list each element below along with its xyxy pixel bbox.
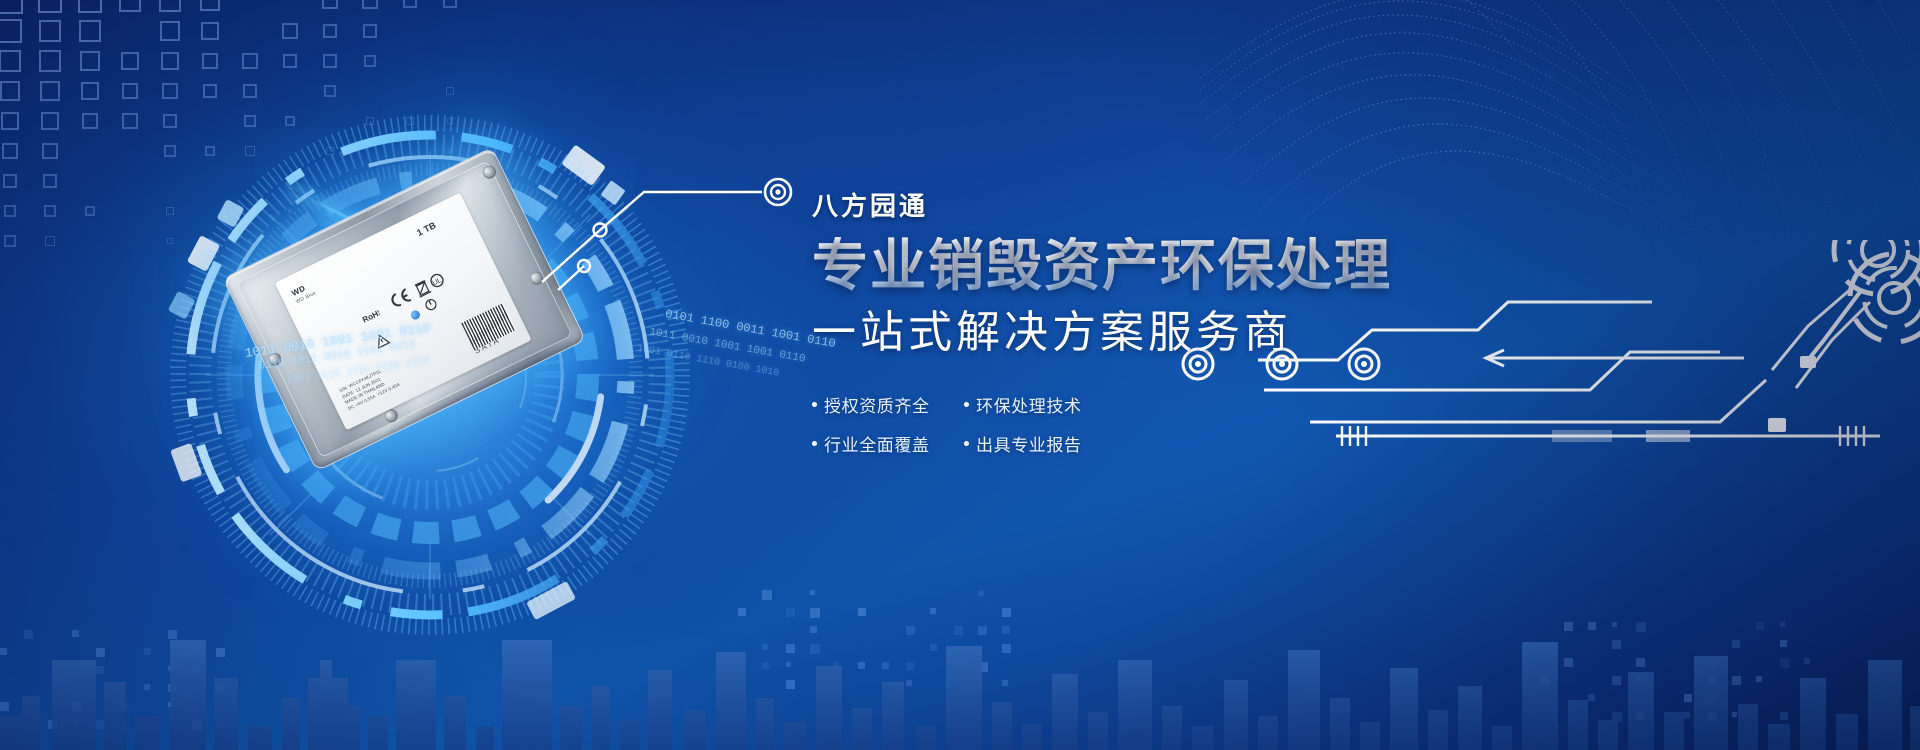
matrix-dot (1684, 694, 1692, 702)
grid-square (288, 239, 291, 242)
warning-triangle-icon (373, 331, 391, 349)
grid-square (166, 207, 174, 215)
power-mark-icon (423, 297, 439, 313)
grid-square (244, 115, 256, 127)
matrix-dot (1612, 622, 1617, 627)
binary-stream-5: 1011 0010 1001 1001 0110 (648, 326, 806, 365)
grid-square (403, 0, 418, 8)
matrix-dot (1612, 640, 1621, 649)
matrix-dot (1708, 658, 1717, 667)
grid-square (364, 55, 376, 67)
matrix-dot (72, 630, 79, 637)
matrix-dot (1588, 694, 1595, 701)
matrix-dot (954, 680, 960, 686)
grid-square (4, 205, 17, 218)
matrix-dot (72, 702, 81, 711)
matrix-dot (762, 644, 768, 650)
grid-square (160, 21, 180, 41)
grid-square (362, 0, 378, 9)
grid-square (164, 145, 176, 157)
hard-disk-drive-image: WD WD Blue 1 TB SATA S/N WCC6Y4KJ7P1L DA… (222, 147, 601, 503)
matrix-dot (96, 720, 105, 729)
grid-square (0, 0, 23, 14)
bullet-dot-icon (812, 402, 817, 407)
matrix-dot (762, 590, 772, 600)
grid-square (45, 236, 55, 246)
city-skyline-silhouette (0, 520, 1920, 750)
matrix-dot (192, 666, 198, 672)
matrix-dot (858, 608, 866, 616)
matrix-dot (738, 608, 746, 616)
grid-square (366, 117, 374, 125)
grid-square (0, 19, 22, 43)
matrix-dot (978, 626, 987, 635)
callout-node-mid (578, 260, 590, 272)
circuit-chip-2 (1646, 430, 1690, 442)
matrix-dot (1684, 712, 1690, 718)
callout-pointer (540, 170, 820, 300)
matrix-dot (810, 626, 817, 633)
grid-square (82, 113, 98, 129)
grid-square (39, 50, 60, 71)
grid-square (1, 112, 20, 131)
grid-square (2, 143, 19, 160)
grid-square (248, 239, 252, 243)
matrix-dot (810, 590, 815, 595)
grid-square (443, 0, 456, 8)
matrix-dot (1588, 622, 1596, 630)
grid-square (200, 0, 220, 11)
grid-square (78, 0, 102, 13)
matrix-dot (906, 680, 912, 686)
matrix-dot (192, 720, 202, 730)
banner-copy: 八方园通 专业销毁资产环保处理 一站式解决方案服务商 授权资质齐全 环保处理技术… (812, 186, 1572, 456)
grid-square (121, 52, 140, 71)
matrix-dot (906, 662, 914, 670)
matrix-dot (1002, 608, 1011, 617)
matrix-dot (120, 702, 127, 709)
matrix-dot (168, 666, 173, 671)
callout-node-core (775, 189, 780, 194)
grid-square (447, 118, 453, 124)
matrix-dot (810, 608, 820, 618)
matrix-dot (96, 666, 104, 674)
matrix-dot (1564, 658, 1573, 667)
grid-square (85, 206, 96, 217)
grid-square (324, 85, 335, 96)
dot-matrix-bottom-right (1540, 622, 1840, 742)
grid-square (328, 209, 332, 213)
matrix-dot (0, 702, 9, 711)
matrix-dot (192, 648, 198, 654)
matrix-dot (930, 608, 936, 614)
bullet-dot-icon (964, 441, 969, 446)
hdd-barcode (461, 303, 515, 350)
feature-item-1: 环保处理技术 (964, 392, 1098, 417)
grid-square (0, 50, 21, 72)
binary-stream-4: 0101 1100 0011 1001 0110 (664, 307, 837, 351)
matrix-dot (762, 662, 769, 669)
feature-list: 授权资质齐全 环保处理技术 行业全面覆盖 出具专业报告 (812, 392, 1572, 456)
brand-eyebrow: 八方园通 (812, 186, 1572, 223)
matrix-dot (1612, 676, 1621, 685)
matrix-dot (1780, 658, 1790, 668)
matrix-dot (834, 662, 839, 667)
matrix-dot (144, 684, 150, 690)
matrix-dot (1612, 712, 1622, 722)
grid-square (39, 20, 62, 43)
matrix-dot (1636, 676, 1642, 682)
grid-square (326, 147, 334, 155)
edge-dial-decoration (1834, 238, 1920, 358)
matrix-dot (1732, 712, 1737, 717)
grid-square (448, 149, 452, 153)
grid-square (202, 53, 219, 70)
promo-banner: WD WD Blue 1 TB SATA S/N WCC6Y4KJ7P1L DA… (0, 0, 1920, 750)
matrix-dot (144, 648, 151, 655)
grid-square (322, 0, 339, 9)
grid-square (43, 174, 57, 188)
grid-square (242, 53, 257, 68)
grid-square (323, 24, 338, 39)
grid-square (159, 0, 180, 12)
matrix-dot (786, 608, 795, 617)
matrix-dot (906, 626, 915, 635)
feature-label: 授权资质齐全 (824, 392, 930, 417)
matrix-dot (1002, 680, 1008, 686)
circuit-pad-2 (1768, 418, 1786, 432)
ul-mark-icon: UL (428, 271, 447, 290)
callout-node-ring (771, 185, 785, 199)
grid-square (283, 54, 297, 68)
grid-square (41, 112, 58, 129)
grid-square (201, 22, 219, 40)
matrix-dot (72, 720, 79, 727)
matrix-dot (96, 648, 105, 657)
matrix-dot (882, 662, 889, 669)
dot-matrix-bottom-left (0, 630, 260, 750)
grid-square (406, 117, 413, 124)
binary-stream-6: 1001 0110 1110 0100 1010 (636, 344, 780, 380)
feature-item-2: 行业全面覆盖 (812, 431, 946, 456)
grid-square (205, 146, 216, 157)
grid-square (80, 51, 100, 71)
matrix-dot (1732, 640, 1740, 648)
grid-square (363, 24, 377, 38)
grid-square (40, 81, 59, 100)
matrix-dot (1804, 658, 1810, 664)
matrix-dot (1780, 712, 1788, 720)
grid-square (162, 83, 178, 99)
grid-square (38, 0, 63, 13)
grid-square (79, 20, 101, 42)
headline: 专业销毁资产环保处理 (812, 237, 1572, 297)
bullet-dot-icon (964, 402, 969, 407)
matrix-dot (24, 630, 33, 639)
hdd-capacity: 1 TB (415, 219, 439, 240)
matrix-dot (168, 702, 173, 707)
dot-matrix-bottom-center (690, 590, 1050, 710)
matrix-dot (1636, 622, 1646, 632)
hdd-spec-block: S/N WCC6Y4KJ7P1L DATE 12 JUN 2021 MADE I… (338, 363, 401, 413)
matrix-dot (216, 720, 224, 728)
grid-square (122, 83, 139, 100)
grid-square (446, 87, 454, 95)
matrix-dot (1708, 712, 1717, 721)
grid-square (163, 114, 177, 128)
bullet-dot-icon (812, 441, 817, 446)
grid-square (122, 113, 137, 128)
matrix-dot (1780, 640, 1787, 647)
matrix-dot (978, 590, 984, 596)
matrix-dot (1002, 644, 1011, 653)
matrix-dot (1002, 626, 1010, 634)
svg-text:RoHS: RoHS (361, 307, 382, 325)
matrix-dot (810, 644, 820, 654)
matrix-dot (786, 680, 795, 689)
grid-square (0, 81, 20, 101)
matrix-dot (216, 648, 225, 657)
grid-square (3, 174, 18, 189)
subheadline: 一站式解决方案服务商 (812, 309, 1572, 357)
grid-square (282, 23, 298, 39)
callout-node-small (594, 224, 607, 237)
matrix-dot (1636, 712, 1644, 720)
matrix-dot (168, 630, 177, 639)
feature-label: 出具专业报告 (976, 431, 1082, 456)
hdd-label-dot (409, 309, 421, 321)
grid-square (161, 52, 179, 70)
matrix-dot (0, 648, 7, 655)
matrix-dot (954, 626, 963, 635)
matrix-dot (1756, 676, 1762, 682)
matrix-dot (1540, 676, 1549, 685)
matrix-dot (1708, 676, 1716, 684)
grid-square (285, 116, 296, 127)
grid-square (245, 146, 255, 156)
grid-square (44, 205, 56, 217)
grid-square (81, 82, 99, 100)
matrix-dot (930, 644, 937, 651)
matrix-dot (1564, 622, 1573, 631)
matrix-dot (1756, 622, 1764, 630)
grid-square (203, 84, 218, 99)
matrix-dot (1636, 658, 1645, 667)
feature-label: 行业全面覆盖 (824, 431, 930, 456)
matrix-dot (858, 662, 865, 669)
feature-item-0: 授权资质齐全 (812, 392, 946, 417)
matrix-dot (216, 684, 224, 692)
matrix-dot (1732, 676, 1741, 685)
matrix-dot (48, 720, 57, 729)
feature-item-3: 出具专业报告 (964, 431, 1098, 456)
matrix-dot (786, 644, 795, 653)
matrix-dot (786, 662, 791, 667)
rohs-mark-icon: RoHS (360, 307, 381, 326)
hdd-body: WD WD Blue 1 TB SATA S/N WCC6Y4KJ7P1L DA… (222, 147, 586, 472)
circuit-pad (1800, 356, 1816, 368)
grid-square (42, 143, 58, 159)
grid-square (119, 0, 142, 12)
callout-node-outer (765, 179, 791, 205)
matrix-dot (978, 662, 988, 672)
grid-square (4, 235, 15, 246)
grid-square (288, 209, 293, 214)
matrix-dot (168, 684, 176, 692)
matrix-dot (1708, 694, 1716, 702)
matrix-dot (1780, 622, 1785, 627)
grid-square (167, 238, 174, 245)
grid-square (323, 54, 336, 67)
grid-square (243, 84, 257, 98)
feature-label: 环保处理技术 (976, 392, 1082, 417)
ce-mark-icon (388, 287, 414, 309)
